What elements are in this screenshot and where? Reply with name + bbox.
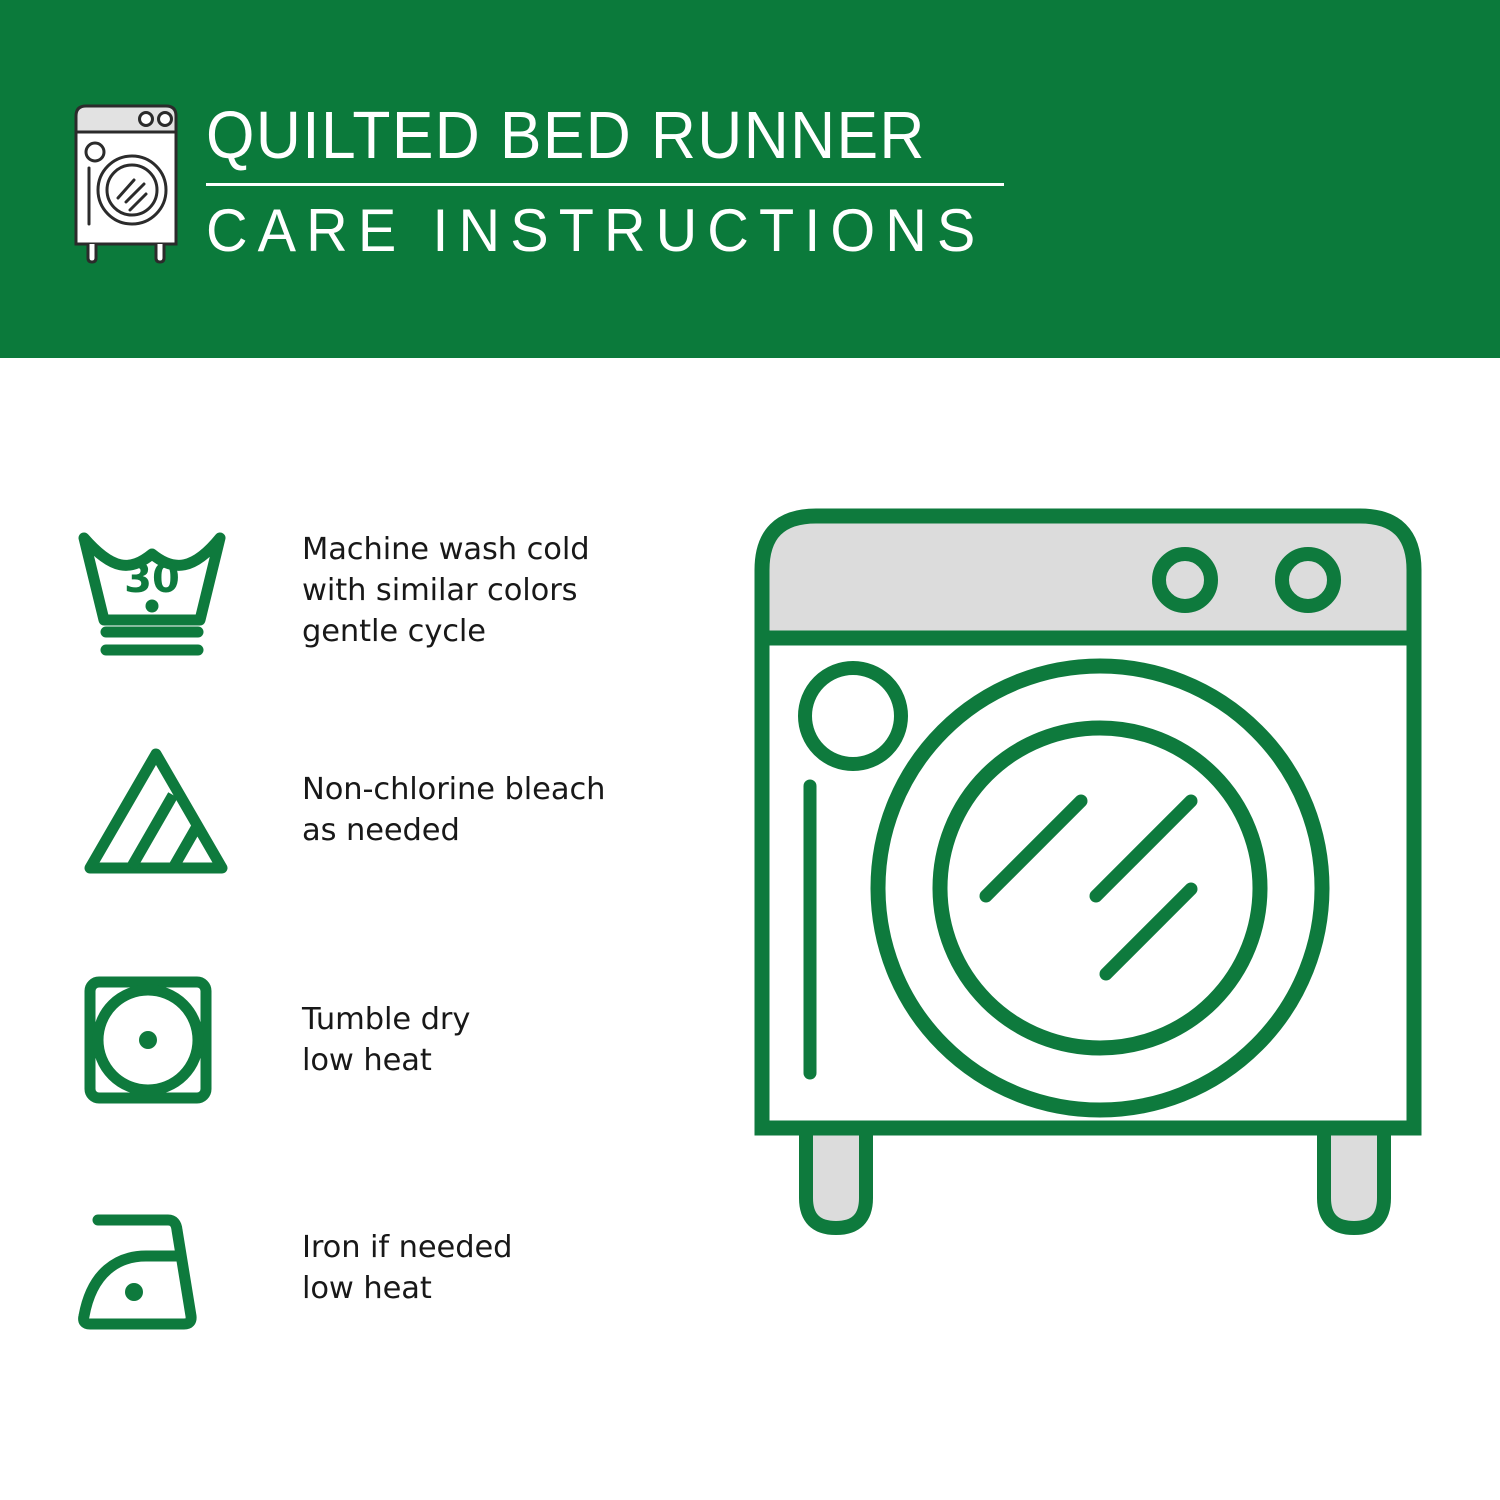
- washing-machine-icon: [62, 98, 190, 266]
- care-item-bleach: Non-chlorine bleach as needed: [72, 740, 605, 880]
- care-item-machine-wash: 30 Machine wash cold with similar colors…: [72, 520, 589, 660]
- care-item-iron: Iron if needed low heat: [72, 1198, 512, 1338]
- care-item-label: Non-chlorine bleach as needed: [302, 769, 605, 851]
- page-title: QUILTED BED RUNNER: [206, 100, 961, 172]
- wash-temperature-label: 30: [124, 556, 180, 602]
- machine-leg-right: [1324, 1128, 1384, 1228]
- wash-tub-30-gentle-icon: 30: [72, 520, 240, 660]
- machine-leg-left: [806, 1128, 866, 1228]
- non-chlorine-bleach-triangle-icon: [72, 740, 240, 880]
- iron-low-heat-icon: [72, 1198, 240, 1338]
- machine-knob-right: [1282, 554, 1334, 606]
- care-item-tumble-dry: Tumble dry low heat: [72, 970, 470, 1110]
- machine-detergent-dial: [805, 668, 901, 764]
- tumble-dry-low-heat-icon: [72, 970, 240, 1110]
- header-content: QUILTED BED RUNNER CARE INSTRUCTIONS: [62, 98, 1018, 266]
- header-band: QUILTED BED RUNNER CARE INSTRUCTIONS: [0, 0, 1500, 358]
- care-item-label: Iron if needed low heat: [302, 1227, 512, 1309]
- title-divider: [206, 183, 1004, 186]
- front-load-washing-machine-illustration: [748, 498, 1448, 1408]
- care-instructions-list: 30 Machine wash cold with similar colors…: [0, 358, 700, 1500]
- machine-knob-left: [1159, 554, 1211, 606]
- page-subtitle: CARE INSTRUCTIONS: [206, 199, 985, 263]
- care-item-label: Tumble dry low heat: [302, 999, 470, 1081]
- header-title-group: QUILTED BED RUNNER CARE INSTRUCTIONS: [206, 98, 1018, 263]
- care-item-label: Machine wash cold with similar colors ge…: [302, 529, 589, 652]
